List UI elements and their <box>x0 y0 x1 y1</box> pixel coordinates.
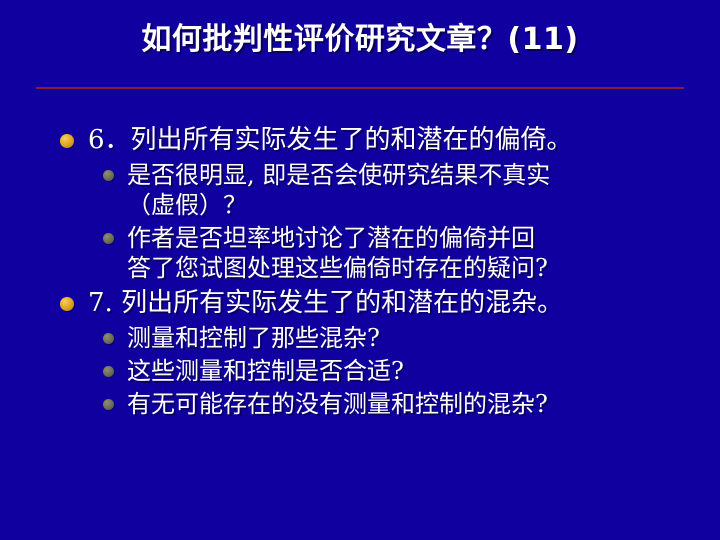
list-item-text: 这些测量和控制是否合适? <box>127 357 404 385</box>
list-item-text-continued: （虚假）？ <box>127 191 247 219</box>
list-item-level2-7-3: 有无可能存在的没有测量和控制的混杂? <box>52 389 712 420</box>
gold-sphere-bullet-icon <box>60 297 74 311</box>
list-item-text: 作者是否坦率地讨论了潜在的偏倚并回 <box>127 224 535 252</box>
list-item-text: 6．列出所有实际发生了的和潜在的偏倚。 <box>88 125 573 155</box>
page-title: 如何批判性评价研究文章？(11) <box>141 22 578 58</box>
presentation-slide: 如何批判性评价研究文章？(11) 6．列出所有实际发生了的和潜在的偏倚。 是否很… <box>0 0 720 540</box>
slide-content-body: 6．列出所有实际发生了的和潜在的偏倚。 是否很明显, 即是否会使研究结果不真实 … <box>52 123 712 422</box>
gray-sphere-bullet-icon <box>103 170 114 181</box>
list-item-text: 7. 列出所有实际发生了的和潜在的混杂。 <box>88 288 563 318</box>
list-item-level2-6-2-wrap: 答了您试图处理这些偏倚时存在的疑问? <box>52 253 712 284</box>
list-item-level2-6-1-wrap: （虚假）？ <box>52 190 712 221</box>
gray-sphere-bullet-icon <box>103 399 114 410</box>
gray-sphere-bullet-icon <box>103 233 114 244</box>
list-item-text-continued: 答了您试图处理这些偏倚时存在的疑问? <box>127 254 548 282</box>
gray-sphere-bullet-icon <box>103 333 114 344</box>
title-divider-rule <box>36 87 684 89</box>
gray-sphere-bullet-icon <box>103 366 114 377</box>
gold-sphere-bullet-icon <box>60 134 74 148</box>
list-item-level2-6-2: 作者是否坦率地讨论了潜在的偏倚并回 <box>52 223 712 254</box>
list-item-level2-7-2: 这些测量和控制是否合适? <box>52 356 712 387</box>
list-item-text: 测量和控制了那些混杂? <box>127 324 380 352</box>
list-item-level2-6-1: 是否很明显, 即是否会使研究结果不真实 <box>52 160 712 191</box>
slide-title-block: 如何批判性评价研究文章？(11) <box>0 22 720 58</box>
list-item-text: 有无可能存在的没有测量和控制的混杂? <box>127 390 548 418</box>
list-item-text: 是否很明显, 即是否会使研究结果不真实 <box>127 161 550 189</box>
list-item-level1-6: 6．列出所有实际发生了的和潜在的偏倚。 <box>52 123 712 157</box>
list-item-level2-7-1: 测量和控制了那些混杂? <box>52 323 712 354</box>
list-item-level1-7: 7. 列出所有实际发生了的和潜在的混杂。 <box>52 286 712 320</box>
